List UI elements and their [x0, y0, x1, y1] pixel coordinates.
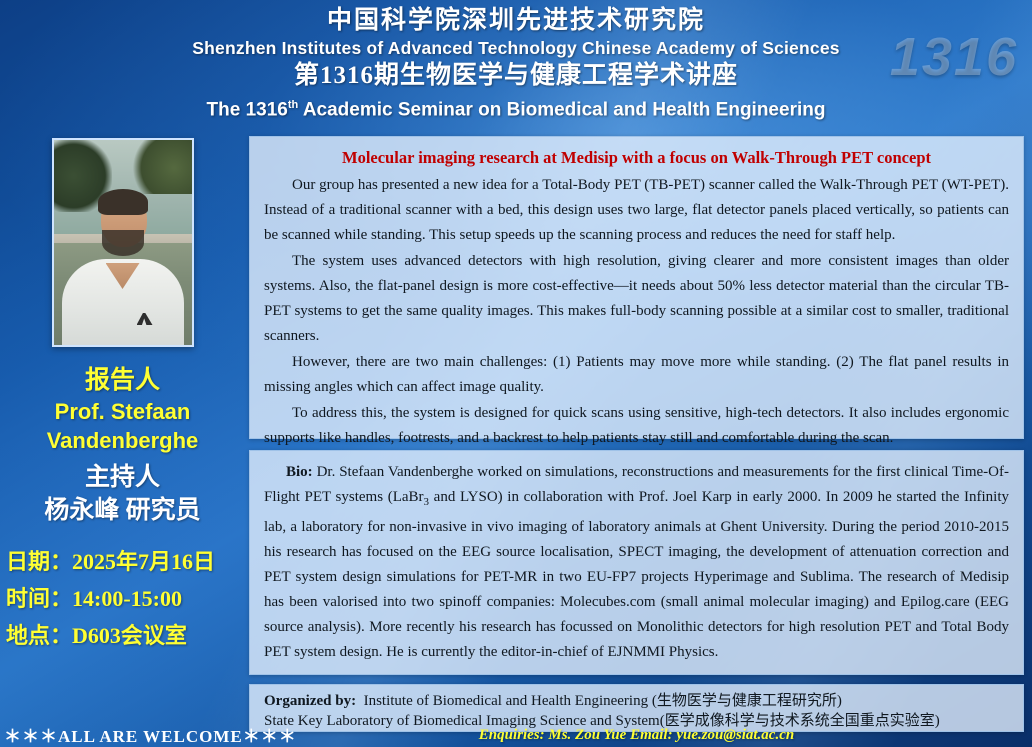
speaker-photo — [52, 138, 194, 347]
event-venue-value: D603会议室 — [72, 623, 187, 648]
contact-footer: Enquiries: Ms. Zou Yue Email: yue.zou@si… — [249, 727, 1024, 744]
seminar-poster: 1316 中国科学院深圳先进技术研究院 Shenzhen Institutes … — [0, 0, 1032, 747]
organizer-name-1: Institute of Biomedical and Health Engin… — [364, 693, 842, 709]
abstract-paragraph-4: To address this, the system is designed … — [264, 401, 1009, 451]
left-info-column: 报告人 Prof. Stefaan Vandenberghe 主持人 杨永峰 研… — [0, 130, 245, 654]
speaker-name-line2: Vandenberghe — [0, 426, 245, 455]
event-time-row: 时间：14:00-15:00 — [6, 580, 245, 617]
series-en-post: Academic Seminar on Biomedical and Healt… — [298, 99, 825, 120]
event-venue-row: 地点：D603会议室 — [6, 617, 245, 654]
organizer-label: Organized by: — [264, 693, 356, 709]
abstract-paragraph-3: However, there are two main challenges: … — [264, 350, 1009, 400]
bio-panel: Bio: Dr. Stefaan Vandenberghe worked on … — [249, 450, 1024, 675]
series-en-ordinal: th — [288, 99, 298, 111]
event-date-label: 日期： — [6, 549, 72, 574]
bio-text: Bio: Dr. Stefaan Vandenberghe worked on … — [264, 460, 1009, 665]
speaker-name-line1: Prof. Stefaan — [0, 397, 245, 426]
abstract-panel: Molecular imaging research at Medisip wi… — [249, 136, 1024, 439]
photo-tree-right — [132, 138, 194, 194]
event-time-value: 14:00-15:00 — [72, 586, 182, 611]
seminar-series-en: The 1316th Academic Seminar on Biomedica… — [0, 92, 1032, 123]
poster-header: 中国科学院深圳先进技术研究院 Shenzhen Institutes of Ad… — [0, 6, 1032, 123]
series-en-pre: The 1316 — [207, 99, 288, 120]
organizers-panel: Organized by: Institute of Biomedical an… — [249, 684, 1024, 732]
institute-name-cn: 中国科学院深圳先进技术研究院 — [0, 6, 1032, 36]
abstract-paragraph-1: Our group has presented a new idea for a… — [264, 173, 1009, 248]
event-time-label: 时间： — [6, 586, 72, 611]
talk-title: Molecular imaging research at Medisip wi… — [264, 147, 1009, 169]
event-venue-label: 地点： — [6, 623, 72, 648]
institute-name-en: Shenzhen Institutes of Advanced Technolo… — [0, 36, 1032, 60]
organizer-line-1: Organized by: Institute of Biomedical an… — [264, 691, 1009, 711]
photo-beard — [102, 230, 144, 256]
bio-label: Bio: — [286, 464, 313, 480]
event-date-row: 日期：2025年7月16日 — [6, 543, 245, 580]
speaker-role-label: 报告人 — [0, 365, 245, 397]
event-meta-list: 日期：2025年7月16日 时间：14:00-15:00 地点：D603会议室 — [0, 543, 245, 654]
bio-text-part2: and LYSO) in collaboration with Prof. Jo… — [264, 489, 1009, 660]
host-role-label: 主持人 — [0, 461, 245, 494]
event-date-value: 2025年7月16日 — [72, 549, 215, 574]
seminar-series-cn: 第1316期生物医学与健康工程学术讲座 — [0, 60, 1032, 92]
host-name: 杨永峰 研究员 — [0, 494, 245, 527]
abstract-paragraph-2: The system uses advanced detectors with … — [264, 249, 1009, 349]
photo-hair — [98, 189, 148, 215]
